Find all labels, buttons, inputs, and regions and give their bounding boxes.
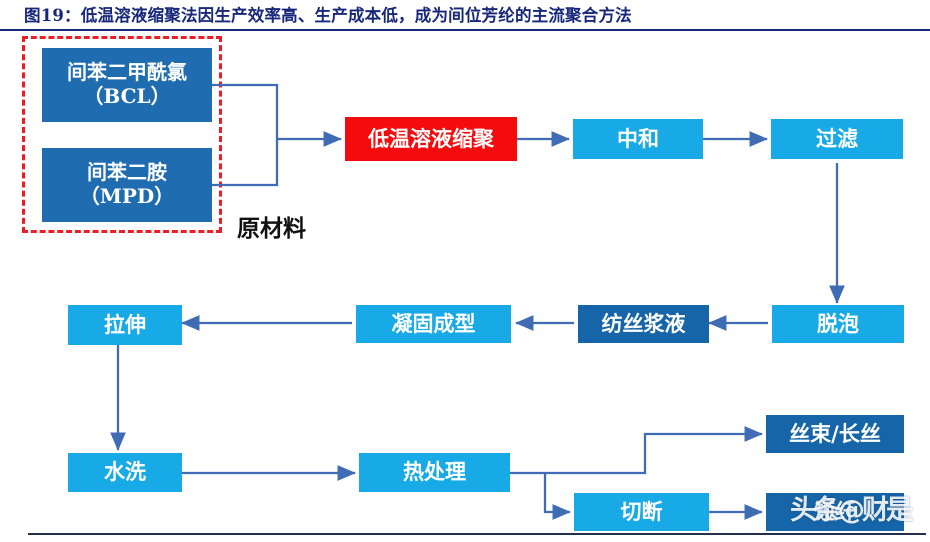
- node-polymerization[interactable]: 低温溶液缩聚: [345, 117, 517, 161]
- node-spinning-dope[interactable]: 纺丝浆液: [578, 305, 709, 343]
- node-washing[interactable]: 水洗: [68, 453, 182, 492]
- node-filtration[interactable]: 过滤: [771, 119, 903, 159]
- node-neutralization[interactable]: 中和: [573, 119, 703, 159]
- bottom-divider: [28, 533, 926, 535]
- raw-material-label: 原材料: [237, 209, 306, 243]
- node-stretching[interactable]: 拉伸: [68, 305, 182, 345]
- node-staple-fiber[interactable]: 短纤: [766, 493, 904, 531]
- node-coagulation[interactable]: 凝固成型: [356, 305, 511, 343]
- flowchart-figure: 图19：低温溶液缩聚法因生产效率高、生产成本低，成为间位芳纶的主流聚合方法: [0, 0, 930, 542]
- node-heat-treatment[interactable]: 热处理: [359, 453, 510, 492]
- node-bcl[interactable]: 间苯二甲酰氯 （BCL）: [42, 48, 212, 122]
- node-cutting[interactable]: 切断: [574, 493, 709, 531]
- node-defoaming[interactable]: 脱泡: [772, 305, 904, 343]
- node-mpd[interactable]: 间苯二胺 （MPD）: [42, 148, 212, 222]
- node-tow-filament[interactable]: 丝束/长丝: [766, 415, 904, 453]
